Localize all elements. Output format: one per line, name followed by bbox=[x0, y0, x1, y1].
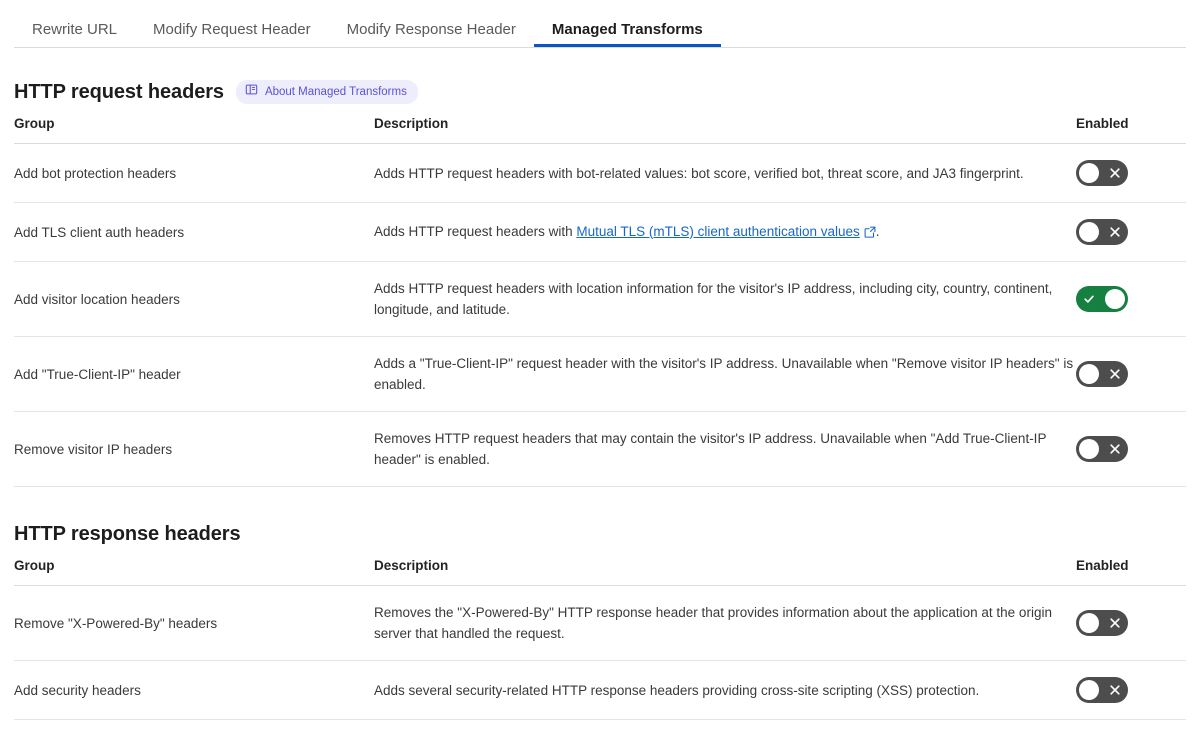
column-header-enabled: Enabled bbox=[1076, 116, 1186, 144]
toggle-add-security-headers[interactable] bbox=[1076, 677, 1128, 703]
toggle-add-bot-protection-headers[interactable] bbox=[1076, 160, 1128, 186]
managed-transforms-response-table: Group Description Enabled Remove "X-Powe… bbox=[14, 558, 1186, 720]
toggle-add-true-client-ip-header[interactable] bbox=[1076, 361, 1128, 387]
page-title-response: HTTP response headers bbox=[14, 523, 241, 546]
tab-managed-transforms[interactable]: Managed Transforms bbox=[534, 0, 721, 47]
tab-modify-response-header[interactable]: Modify Response Header bbox=[329, 0, 534, 47]
row-enabled-cell bbox=[1076, 144, 1186, 203]
book-icon bbox=[245, 83, 258, 101]
toggle-knob bbox=[1079, 163, 1099, 183]
external-link-icon[interactable] bbox=[864, 223, 876, 244]
row-enabled-cell bbox=[1076, 586, 1186, 661]
row-group-label: Remove visitor IP headers bbox=[14, 412, 374, 487]
toggle-add-visitor-location-headers[interactable] bbox=[1076, 286, 1128, 312]
section-header-response: HTTP response headers bbox=[14, 523, 1186, 546]
column-header-description: Description bbox=[374, 116, 1076, 144]
section-http-response-headers: HTTP response headers Group Description … bbox=[0, 523, 1200, 720]
table-row: Remove visitor IP headers Removes HTTP r… bbox=[14, 412, 1186, 487]
close-icon bbox=[1102, 610, 1128, 636]
description-text-suffix: . bbox=[876, 224, 880, 239]
table-row: Add security headers Adds several securi… bbox=[14, 661, 1186, 720]
table-header-row: Group Description Enabled bbox=[14, 558, 1186, 586]
toggle-remove-visitor-ip-headers[interactable] bbox=[1076, 436, 1128, 462]
row-group-label: Remove "X-Powered-By" headers bbox=[14, 586, 374, 661]
row-enabled-cell bbox=[1076, 412, 1186, 487]
toggle-knob bbox=[1079, 439, 1099, 459]
row-group-label: Add "True-Client-IP" header bbox=[14, 337, 374, 412]
row-group-label: Add bot protection headers bbox=[14, 144, 374, 203]
toggle-knob bbox=[1079, 613, 1099, 633]
page-title-request: HTTP request headers bbox=[14, 81, 224, 104]
row-description: Adds HTTP request headers with Mutual TL… bbox=[374, 203, 1076, 262]
close-icon bbox=[1102, 361, 1128, 387]
row-description: Adds a "True-Client-IP" request header w… bbox=[374, 337, 1076, 412]
row-enabled-cell bbox=[1076, 203, 1186, 262]
close-icon bbox=[1102, 677, 1128, 703]
toggle-knob bbox=[1079, 222, 1099, 242]
row-group-label: Add visitor location headers bbox=[14, 262, 374, 337]
toggle-add-tls-client-auth-headers[interactable] bbox=[1076, 219, 1128, 245]
close-icon bbox=[1102, 219, 1128, 245]
table-row: Add TLS client auth headers Adds HTTP re… bbox=[14, 203, 1186, 262]
managed-transforms-request-table: Group Description Enabled Add bot protec… bbox=[14, 116, 1186, 487]
row-enabled-cell bbox=[1076, 661, 1186, 720]
table-row: Remove "X-Powered-By" headers Removes th… bbox=[14, 586, 1186, 661]
toggle-remove-x-powered-by-headers[interactable] bbox=[1076, 610, 1128, 636]
close-icon bbox=[1102, 436, 1128, 462]
toggle-knob bbox=[1079, 364, 1099, 384]
section-http-request-headers: HTTP request headers About Managed Trans… bbox=[0, 80, 1200, 487]
close-icon bbox=[1102, 160, 1128, 186]
row-description: Adds several security-related HTTP respo… bbox=[374, 661, 1076, 720]
check-icon bbox=[1076, 286, 1102, 312]
table-row: Add "True-Client-IP" header Adds a "True… bbox=[14, 337, 1186, 412]
tab-bar: Rewrite URL Modify Request Header Modify… bbox=[0, 0, 1200, 48]
about-badge-label: About Managed Transforms bbox=[265, 85, 407, 100]
row-description: Removes HTTP request headers that may co… bbox=[374, 412, 1076, 487]
toggle-knob bbox=[1105, 289, 1125, 309]
tab-modify-request-header[interactable]: Modify Request Header bbox=[135, 0, 329, 47]
row-enabled-cell bbox=[1076, 337, 1186, 412]
description-text-prefix: Adds HTTP request headers with bbox=[374, 224, 576, 239]
about-managed-transforms-link[interactable]: About Managed Transforms bbox=[236, 80, 418, 104]
row-group-label: Add TLS client auth headers bbox=[14, 203, 374, 262]
mtls-documentation-link[interactable]: Mutual TLS (mTLS) client authentication … bbox=[576, 224, 859, 239]
table-row: Add visitor location headers Adds HTTP r… bbox=[14, 262, 1186, 337]
column-header-enabled: Enabled bbox=[1076, 558, 1186, 586]
row-group-label: Add security headers bbox=[14, 661, 374, 720]
toggle-knob bbox=[1079, 680, 1099, 700]
row-description: Adds HTTP request headers with location … bbox=[374, 262, 1076, 337]
column-header-group: Group bbox=[14, 558, 374, 586]
table-header-row: Group Description Enabled bbox=[14, 116, 1186, 144]
row-description: Adds HTTP request headers with bot-relat… bbox=[374, 144, 1076, 203]
row-enabled-cell bbox=[1076, 262, 1186, 337]
section-header-request: HTTP request headers About Managed Trans… bbox=[14, 80, 1186, 104]
column-header-description: Description bbox=[374, 558, 1076, 586]
table-row: Add bot protection headers Adds HTTP req… bbox=[14, 144, 1186, 203]
column-header-group: Group bbox=[14, 116, 374, 144]
tab-rewrite-url[interactable]: Rewrite URL bbox=[14, 0, 135, 47]
row-description: Removes the "X-Powered-By" HTTP response… bbox=[374, 586, 1076, 661]
